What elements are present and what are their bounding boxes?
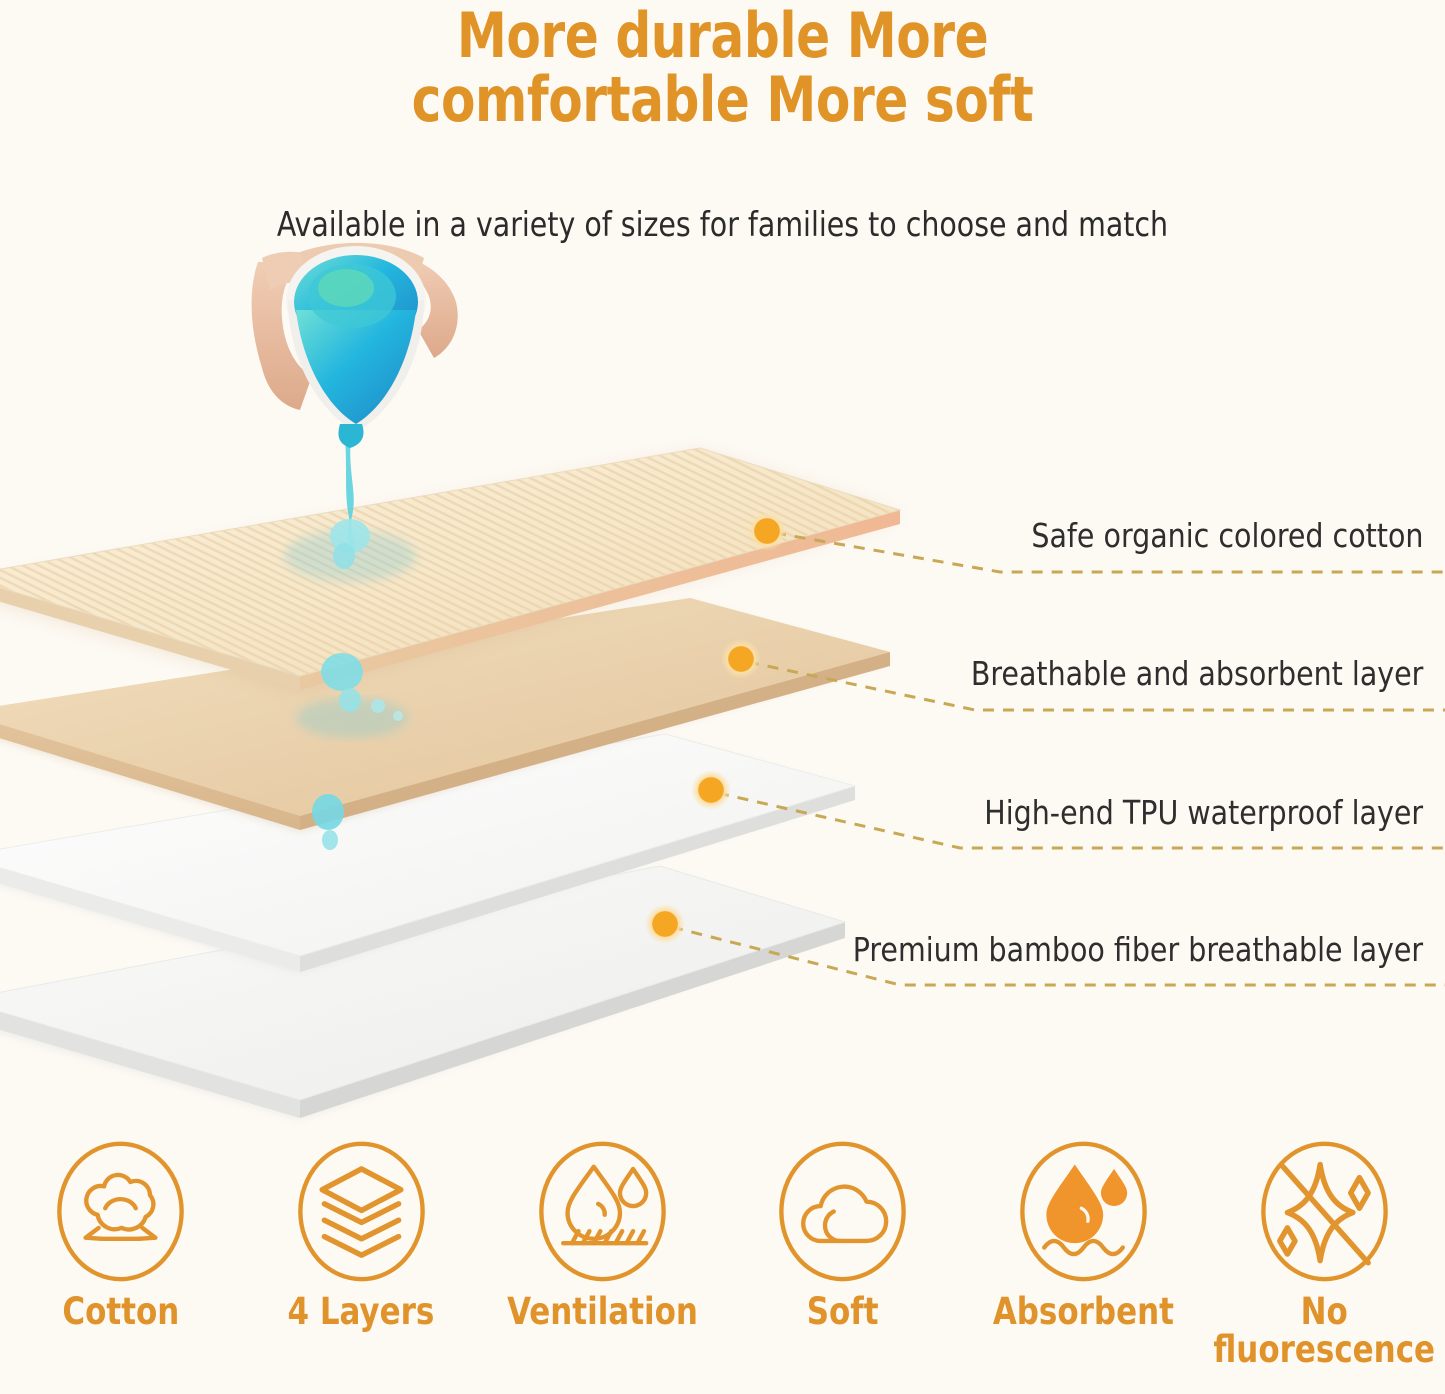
cup-icon: [286, 246, 426, 448]
cotton-boll-icon: [55, 1140, 186, 1283]
callout-label-cotton: Safe organic colored cotton: [1031, 516, 1423, 555]
feature-label: Soft: [807, 1293, 879, 1331]
feature-no-fluorescence: No fluorescence: [1204, 1140, 1445, 1368]
feature-label: Cotton: [62, 1293, 179, 1331]
feature-strip: Cotton 4 Layers: [0, 1140, 1445, 1394]
feature-soft: Soft: [722, 1140, 963, 1331]
feature-label: Absorbent: [993, 1293, 1174, 1331]
callout-label-absorbent: Breathable and absorbent layer: [970, 654, 1423, 693]
feature-cotton: Cotton: [0, 1140, 241, 1331]
feature-label: No fluorescence: [1214, 1293, 1436, 1368]
no-sparkle-icon: [1259, 1140, 1390, 1283]
layers-stack-icon: [296, 1140, 427, 1283]
feature-absorbent: Absorbent: [963, 1140, 1204, 1331]
infographic-canvas: More durable More comfortable More soft …: [0, 0, 1445, 1394]
feature-layers: 4 Layers: [241, 1140, 482, 1331]
callout-label-bamboo: Premium bamboo fiber breathable layer: [853, 930, 1423, 969]
cloud-icon: [777, 1140, 908, 1283]
feature-label: 4 Layers: [288, 1293, 435, 1331]
droplet-on-fabric-icon: [537, 1140, 668, 1283]
callout-label-tpu: High-end TPU waterproof layer: [984, 793, 1423, 832]
feature-ventilation: Ventilation: [482, 1140, 723, 1331]
feature-label: Ventilation: [507, 1293, 698, 1331]
layer-illustration: [0, 0, 1445, 1160]
droplet-waves-icon: [1018, 1140, 1149, 1283]
